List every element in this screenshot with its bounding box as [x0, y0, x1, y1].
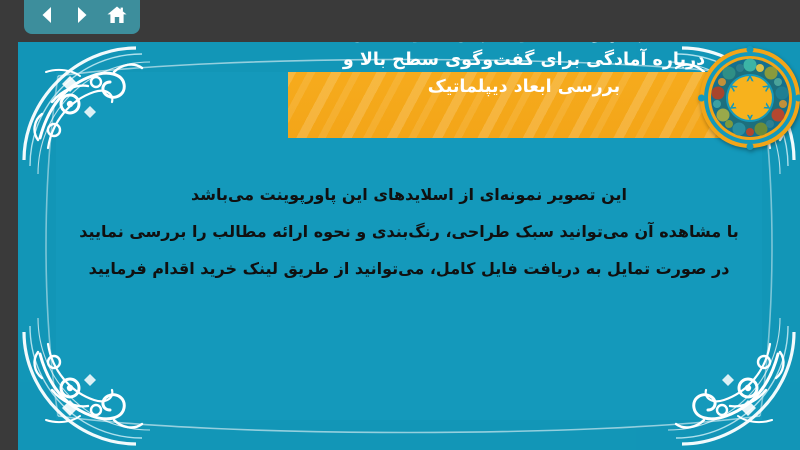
title-banner-tab: [270, 72, 288, 138]
home-button[interactable]: [102, 2, 132, 28]
slide-navigation-toolbar: [24, 0, 140, 34]
previous-slide-button[interactable]: [32, 2, 62, 28]
body-line-3: در صورت تمایل به دریافت فایل کامل، می‌تو…: [78, 250, 740, 287]
body-line-2: با مشاهده آن می‌توانید سبک طراحی، رنگ‌بن…: [78, 213, 740, 250]
slide-frame: تحلیل پیام رسمی دولت چین به واشنگتن دربا…: [18, 42, 800, 450]
persian-medallion-ornament: [698, 46, 800, 150]
slide-body-text: این تصویر نمونه‌ای از اسلایدهای این پاور…: [78, 176, 740, 287]
home-icon: [106, 5, 128, 25]
body-line-1: این تصویر نمونه‌ای از اسلایدهای این پاور…: [78, 176, 740, 213]
next-slide-button[interactable]: [67, 2, 97, 28]
left-triangle-icon: [37, 5, 57, 25]
slide-viewer: تحلیل پیام رسمی دولت چین به واشنگتن دربا…: [0, 0, 800, 450]
right-triangle-icon: [72, 5, 92, 25]
